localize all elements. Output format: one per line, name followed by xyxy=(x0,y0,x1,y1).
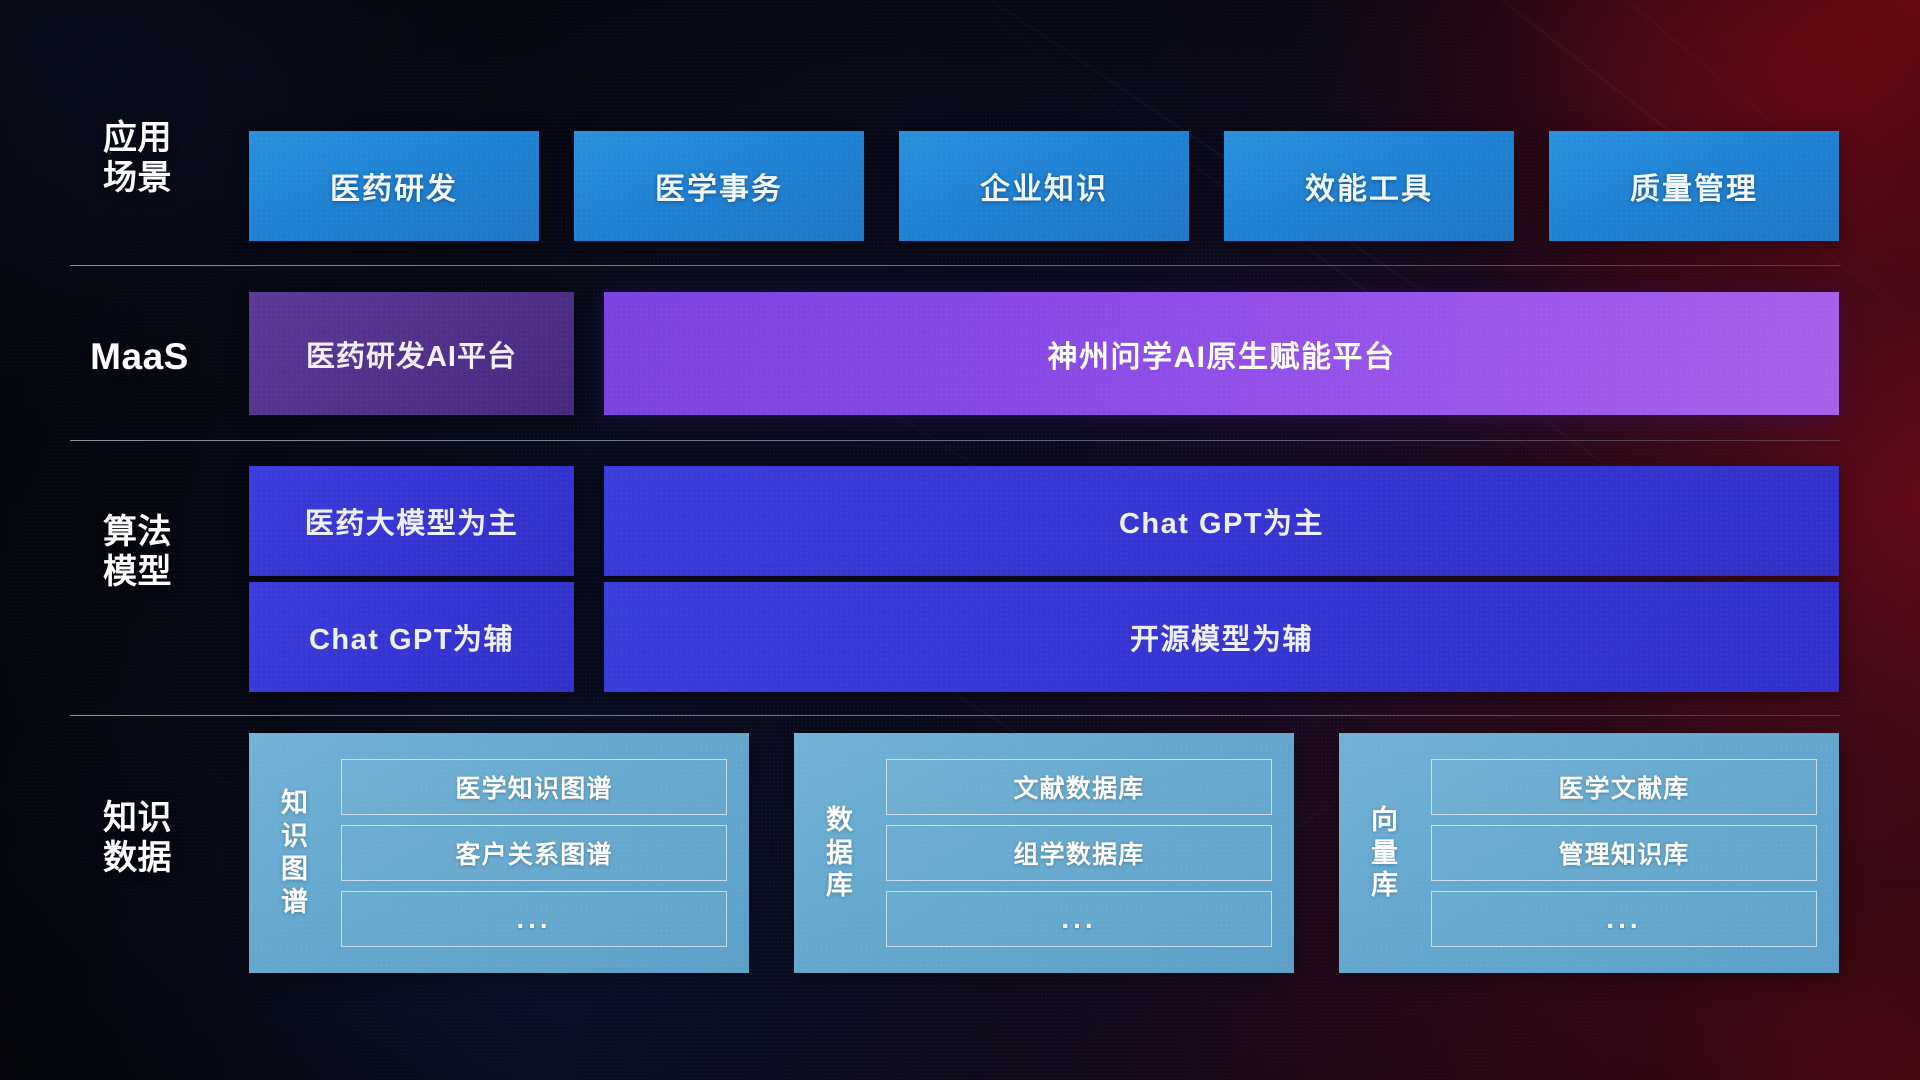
knowledge-item-more[interactable]: ... xyxy=(1431,891,1817,947)
knowledge-item-more[interactable]: ... xyxy=(886,891,1272,947)
scene-card-2[interactable]: 医学事务 xyxy=(574,131,864,241)
knowledge-item[interactable]: 组学数据库 xyxy=(886,825,1272,881)
knowledge-item[interactable]: 客户关系图谱 xyxy=(341,825,727,881)
knowledge-card-database-title: 数 据 库 xyxy=(794,749,886,957)
divider-3 xyxy=(70,715,1840,716)
maas-platform-shenzhou-label: 神州问学AI原生赋能平台 xyxy=(1048,332,1396,376)
divider-1 xyxy=(70,265,1840,266)
algo-box-row2-right-label: 开源模型为辅 xyxy=(1130,616,1313,658)
knowledge-card-knowledge-graph[interactable]: 知 识 图 谱 医学知识图谱 客户关系图谱 ... xyxy=(249,733,749,973)
scene-card-4[interactable]: 效能工具 xyxy=(1224,131,1514,241)
scene-card-5-label: 质量管理 xyxy=(1630,164,1758,208)
scene-card-1[interactable]: 医药研发 xyxy=(249,131,539,241)
algo-box-row1-left-label: 医药大模型为主 xyxy=(305,500,519,542)
tier-label-maas: MaaS xyxy=(62,335,217,379)
knowledge-item-more[interactable]: ... xyxy=(341,891,727,947)
knowledge-card-vector-database[interactable]: 向 量 库 医学文献库 管理知识库 ... xyxy=(1339,733,1839,973)
knowledge-item[interactable]: 医学文献库 xyxy=(1431,759,1817,815)
divider-2 xyxy=(70,440,1840,441)
knowledge-card-knowledge-graph-items: 医学知识图谱 客户关系图谱 ... xyxy=(341,749,727,957)
scene-card-5[interactable]: 质量管理 xyxy=(1549,131,1839,241)
scene-card-1-label: 医药研发 xyxy=(330,164,458,208)
scene-card-4-label: 效能工具 xyxy=(1305,164,1433,208)
tier-label-knowledge-data: 知识 数据 xyxy=(70,798,205,878)
knowledge-card-vector-database-title: 向 量 库 xyxy=(1339,749,1431,957)
maas-platform-medical[interactable]: 医药研发AI平台 xyxy=(249,292,574,415)
knowledge-card-database-items: 文献数据库 组学数据库 ... xyxy=(886,749,1272,957)
maas-platform-shenzhou[interactable]: 神州问学AI原生赋能平台 xyxy=(604,292,1839,415)
scene-card-3[interactable]: 企业知识 xyxy=(899,131,1189,241)
algo-box-row1-right[interactable]: Chat GPT为主 xyxy=(604,466,1839,576)
scene-card-2-label: 医学事务 xyxy=(655,164,783,208)
algo-box-row2-left[interactable]: Chat GPT为辅 xyxy=(249,582,574,692)
knowledge-item[interactable]: 管理知识库 xyxy=(1431,825,1817,881)
algo-box-row1-right-label: Chat GPT为主 xyxy=(1119,500,1324,542)
tier-label-application-scenario: 应用 场景 xyxy=(70,118,205,198)
architecture-diagram: 应用 场景 医药研发 医学事务 企业知识 效能工具 质量管理 MaaS 医药研发… xyxy=(0,0,1920,1080)
knowledge-card-knowledge-graph-title: 知 识 图 谱 xyxy=(249,749,341,957)
knowledge-card-vector-database-items: 医学文献库 管理知识库 ... xyxy=(1431,749,1817,957)
knowledge-item[interactable]: 医学知识图谱 xyxy=(341,759,727,815)
maas-platform-medical-label: 医药研发AI平台 xyxy=(306,333,517,375)
algo-box-row2-left-label: Chat GPT为辅 xyxy=(309,616,514,658)
algo-box-row1-left[interactable]: 医药大模型为主 xyxy=(249,466,574,576)
knowledge-item[interactable]: 文献数据库 xyxy=(886,759,1272,815)
knowledge-card-database[interactable]: 数 据 库 文献数据库 组学数据库 ... xyxy=(794,733,1294,973)
algo-box-row2-right[interactable]: 开源模型为辅 xyxy=(604,582,1839,692)
tier-label-algorithm-model: 算法 模型 xyxy=(70,512,205,592)
scene-card-3-label: 企业知识 xyxy=(980,164,1108,208)
